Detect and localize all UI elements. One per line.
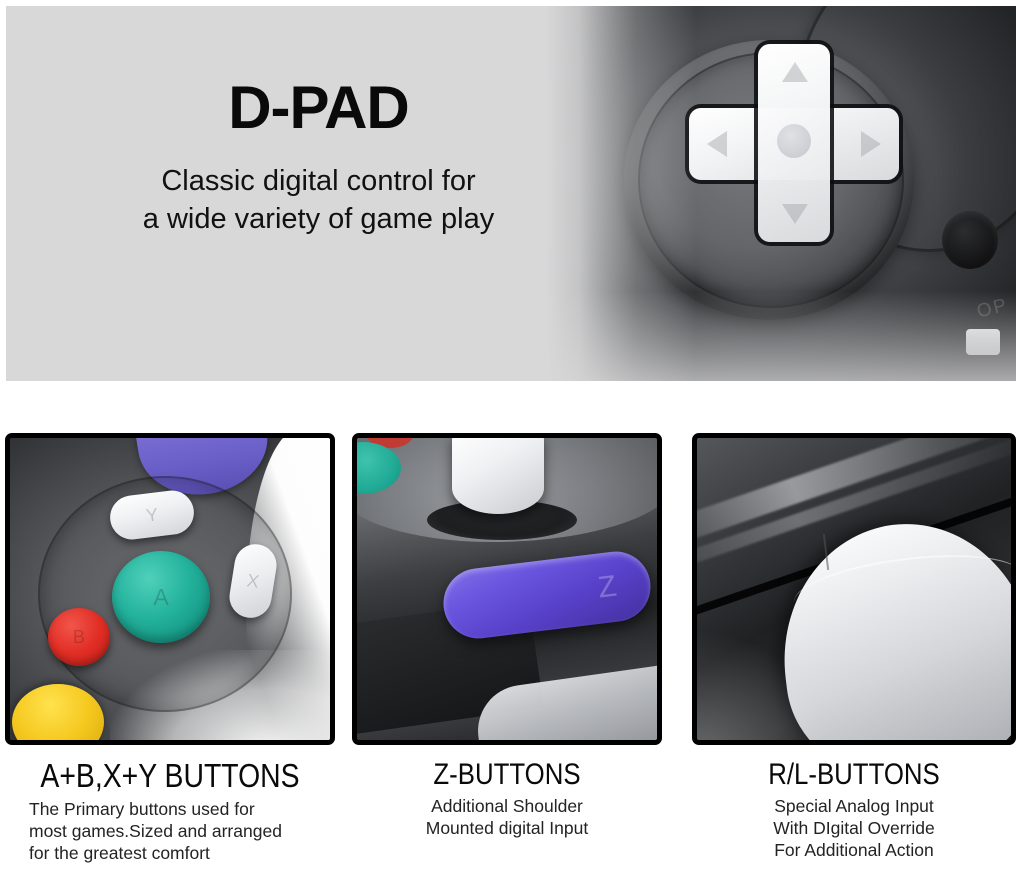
- panel-body-line-2: With DIgital Override: [692, 817, 1016, 839]
- page-title: D-PAD: [6, 78, 631, 138]
- z-button-photo: Z: [352, 433, 662, 745]
- y-button-glyph: Y: [145, 504, 159, 526]
- panel-body-a-b-x-y: The Primary buttons used for most games.…: [5, 798, 335, 865]
- hero-banner: D-PAD Classic digital control for a wide…: [6, 6, 1016, 381]
- panel-title-a-b-x-y: A+B,X+Y BUTTONS: [28, 759, 312, 794]
- x-button-glyph: X: [245, 570, 260, 593]
- dpad-up-arrow-icon: [782, 62, 808, 82]
- panel-title-z-buttons: Z-BUTTONS: [374, 759, 641, 791]
- b-button: B: [48, 608, 110, 666]
- b-button-glyph: B: [73, 627, 85, 648]
- analog-stick: [452, 433, 544, 514]
- panel-body-r-l-buttons: Special Analog Input With DIgital Overri…: [692, 795, 1016, 862]
- panel-body-z-buttons: Additional Shoulder Mounted digital Inpu…: [352, 795, 662, 839]
- panel-body-line-2: most games.Sized and arranged: [29, 820, 335, 842]
- hero-text-block: D-PAD Classic digital control for a wide…: [6, 78, 631, 239]
- photo-bottom-highlight: [692, 630, 827, 745]
- a-button-glyph: A: [153, 584, 168, 611]
- trigger-button-photo: [692, 433, 1016, 745]
- hero-subtitle-line-2: a wide variety of game play: [6, 200, 631, 238]
- a-button: A: [112, 551, 210, 643]
- panel-body-line-1: Special Analog Input: [692, 795, 1016, 817]
- z-button-glyph: Z: [596, 570, 618, 606]
- panel-body-line-1: The Primary buttons used for: [29, 798, 335, 820]
- face-buttons-photo: Y X A B: [5, 433, 335, 745]
- dpad-closeup-photo: OP: [546, 6, 1016, 381]
- panel-body-line-2: Mounted digital Input: [352, 817, 662, 839]
- hero-subtitle-line-1: Classic digital control for: [6, 162, 631, 200]
- feature-panel-r-l-buttons: R/L-BUTTONS Special Analog Input With DI…: [692, 433, 1016, 861]
- dpad-right-arrow-icon: [861, 131, 881, 157]
- panel-body-line-3: for the greatest comfort: [29, 842, 335, 864]
- photo-bottom-fade: [546, 291, 1016, 381]
- panel-body-line-1: Additional Shoulder: [352, 795, 662, 817]
- controller-port-hole: [942, 211, 998, 269]
- dpad-cross: [689, 44, 899, 242]
- panel-title-r-l-buttons: R/L-BUTTONS: [715, 759, 994, 791]
- hero-subtitle: Classic digital control for a wide varie…: [6, 162, 631, 239]
- panel-body-line-3: For Additional Action: [692, 839, 1016, 861]
- feature-panel-z-buttons: Z Z-BUTTONS Additional Shoulder Mounted …: [352, 433, 662, 839]
- dpad-center-dot: [777, 124, 811, 158]
- dpad-left-arrow-icon: [707, 131, 727, 157]
- feature-panel-a-b-x-y: Y X A B A+B,X+Y BUTTONS The Primary butt…: [5, 433, 335, 864]
- dpad-down-arrow-icon: [782, 204, 808, 224]
